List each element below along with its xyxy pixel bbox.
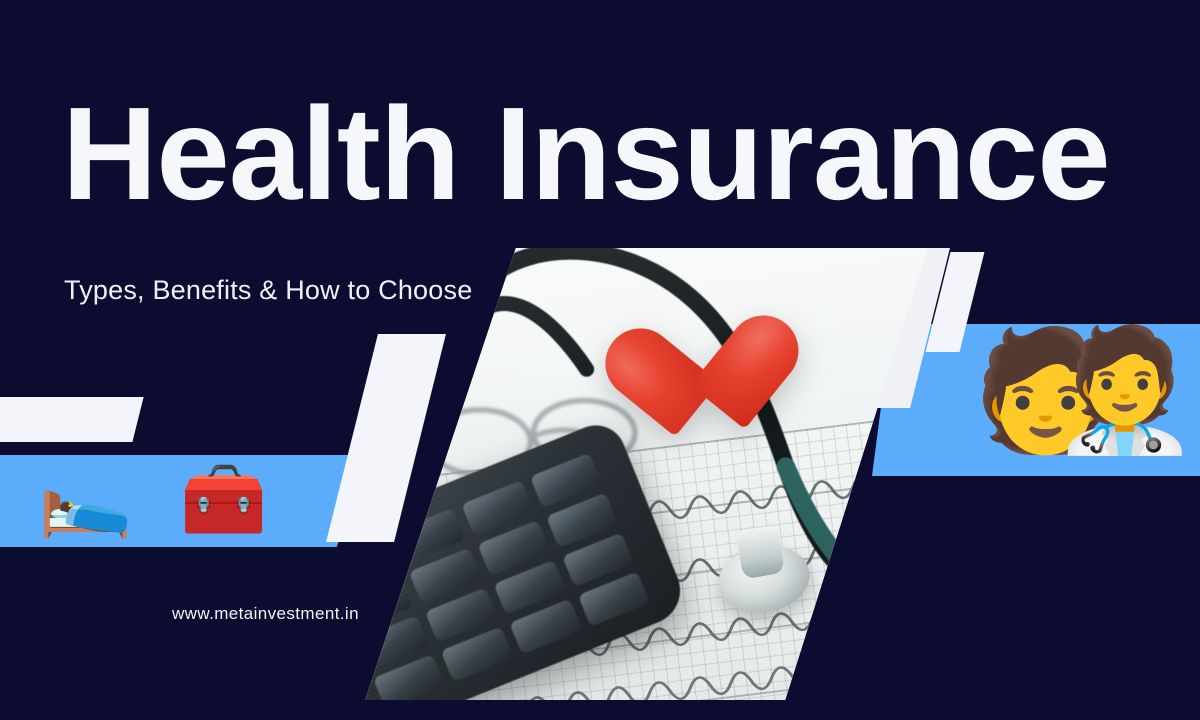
- page-subtitle: Types, Benefits & How to Choose: [64, 275, 472, 306]
- hero-photo: [352, 248, 952, 700]
- health-insurance-banner: 🛌 🧰 🧑 🧑‍⚕️ Health Insurance Types, Benef…: [0, 0, 1200, 720]
- doctor-icon: 🧑‍⚕️: [1050, 330, 1199, 450]
- medical-kit-icon: 🧰: [180, 464, 267, 534]
- page-title: Health Insurance: [62, 88, 1110, 220]
- hospital-patient-icon: 🛌: [38, 460, 133, 536]
- left-white-slant-bar: [0, 397, 144, 442]
- mid-white-slant-bar: [326, 334, 446, 542]
- photo-vignette: [352, 248, 952, 700]
- site-url-label: www.metainvestment.in: [172, 604, 359, 624]
